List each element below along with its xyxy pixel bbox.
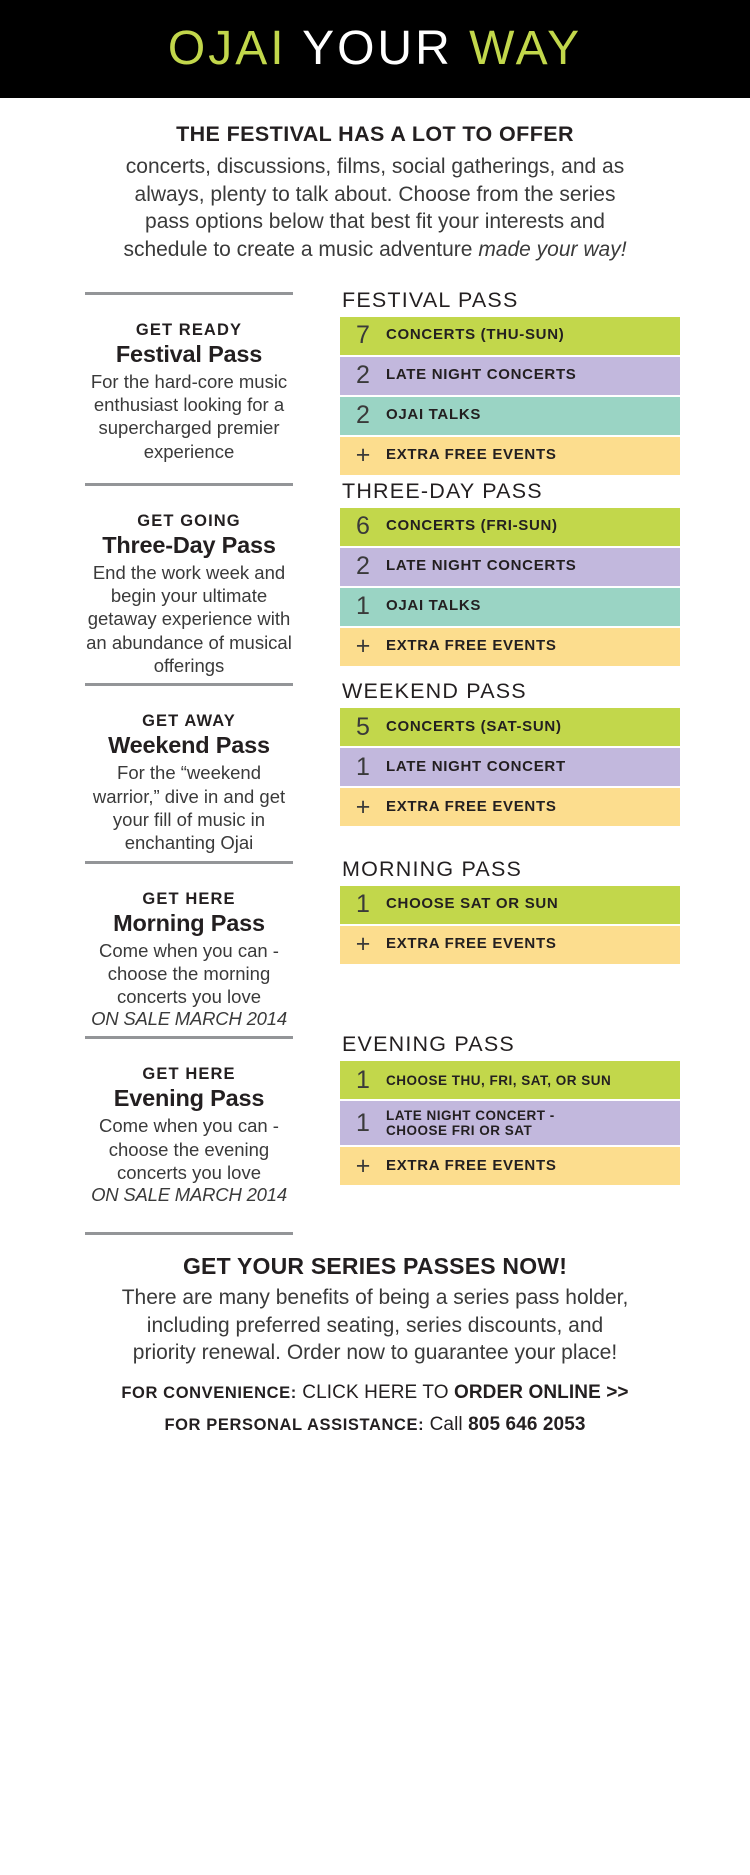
footer-line-2: including preferred seating, series disc… [147,1314,603,1337]
pass-benefits: MORNING PASS1CHOOSE SAT OR SUN+EXTRA FRE… [340,855,680,966]
section-divider [85,292,293,295]
section-divider [85,1232,293,1235]
pass-row: GET HEREMorning PassCome when you can - … [0,855,750,1031]
pass-kicker: GET HERE [84,890,294,909]
benefit-quantity: 1 [340,755,386,780]
pass-info: GET HEREMorning PassCome when you can - … [84,855,294,1031]
pass-on-sale-note: ON SALE MARCH 2014 [84,1184,294,1206]
section-divider [85,861,293,864]
benefit-label: LATE NIGHT CONCERTS [386,558,577,575]
benefit-bar: 1LATE NIGHT CONCERT -CHOOSE FRI OR SAT [340,1101,680,1145]
benefit-bar: 5CONCERTS (SAT-SUN) [340,708,680,746]
pass-row: GET AWAYWeekend PassFor the “weekend war… [0,677,750,854]
pass-title: Morning Pass [84,910,294,937]
pass-info: GET AWAYWeekend PassFor the “weekend war… [84,677,294,854]
infographic-page: OJAI YOUR WAY THE FESTIVAL HAS A LOT TO … [0,0,750,1875]
pass-on-sale-note: ON SALE MARCH 2014 [84,1008,294,1030]
assistance-label: FOR PERSONAL ASSISTANCE: [164,1416,424,1434]
pass-benefits: EVENING PASS1CHOOSE THU, FRI, SAT, OR SU… [340,1030,680,1187]
benefit-bar: 2LATE NIGHT CONCERTS [340,548,680,586]
pass-description: Come when you can - choose the evening c… [84,1114,294,1184]
pass-description: End the work week and begin your ultimat… [84,561,294,677]
benefit-label: CHOOSE SAT OR SUN [386,896,558,913]
phone-number[interactable]: 805 646 2053 [468,1414,585,1435]
benefit-quantity: 5 [340,715,386,740]
call-prefix: Call [430,1414,469,1435]
title-word-way: WAY [469,22,582,75]
section-divider [85,483,293,486]
benefit-bar: +EXTRA FREE EVENTS [340,1147,680,1185]
pass-info: GET HEREEvening PassCome when you can - … [84,1030,294,1235]
pass-kicker: GET HERE [84,1065,294,1084]
pass-benefits-heading: MORNING PASS [342,857,680,882]
benefit-bar: 2LATE NIGHT CONCERTS [340,357,680,395]
pass-benefits: FESTIVAL PASS7CONCERTS (THU-SUN)2LATE NI… [340,286,680,477]
intro-line-3: pass options below that best fit your in… [145,210,605,233]
benefit-quantity: 7 [340,323,386,348]
benefit-bar: 2OJAI TALKS [340,397,680,435]
intro-section: THE FESTIVAL HAS A LOT TO OFFER concerts… [0,98,750,264]
order-online-line: FOR CONVENIENCE: CLICK HERE TO ORDER ONL… [46,1382,704,1404]
footer-line-1: There are many benefits of being a serie… [122,1286,629,1309]
benefit-quantity: 2 [340,554,386,579]
benefit-quantity: 2 [340,363,386,388]
benefit-quantity: + [340,443,386,468]
benefit-quantity: 2 [340,403,386,428]
pass-benefits-heading: FESTIVAL PASS [342,288,680,313]
benefit-bar: 1CHOOSE THU, FRI, SAT, OR SUN [340,1061,680,1099]
benefit-label: OJAI TALKS [386,598,481,615]
intro-line-4: schedule to create a music adventure [123,238,478,261]
benefit-bar-list: 1CHOOSE SAT OR SUN+EXTRA FREE EVENTS [340,886,680,964]
intro-emphasis: made your way! [478,238,626,261]
convenience-label: FOR CONVENIENCE: [121,1384,297,1402]
pass-title: Three-Day Pass [84,532,294,559]
benefit-bar-list: 7CONCERTS (THU-SUN)2LATE NIGHT CONCERTS2… [340,317,680,475]
benefit-label: LATE NIGHT CONCERTS [386,367,577,384]
benefit-label: EXTRA FREE EVENTS [386,936,557,953]
page-title: OJAI YOUR WAY [168,25,582,73]
benefit-bar: 6CONCERTS (FRI-SUN) [340,508,680,546]
pass-benefits-heading: EVENING PASS [342,1032,680,1057]
benefit-bar: 1CHOOSE SAT OR SUN [340,886,680,924]
intro-line-1: concerts, discussions, films, social gat… [126,155,624,178]
benefit-quantity: 1 [340,1068,386,1093]
pass-benefits-heading: THREE-DAY PASS [342,479,680,504]
benefit-bar: 7CONCERTS (THU-SUN) [340,317,680,355]
pass-info: GET GOINGThree-Day PassEnd the work week… [84,477,294,677]
benefit-label: LATE NIGHT CONCERT -CHOOSE FRI OR SAT [386,1108,555,1138]
benefit-quantity: 1 [340,594,386,619]
benefit-label: EXTRA FREE EVENTS [386,799,557,816]
benefit-quantity: 1 [340,1111,386,1136]
pass-description: For the “weekend warrior,” dive in and g… [84,761,294,854]
footer-section: GET YOUR SERIES PASSES NOW! There are ma… [0,1235,750,1466]
benefit-label: CONCERTS (THU-SUN) [386,327,564,344]
pass-benefits: WEEKEND PASS5CONCERTS (SAT-SUN)1LATE NIG… [340,677,680,828]
benefit-bar: +EXTRA FREE EVENTS [340,926,680,964]
pass-benefits: THREE-DAY PASS6CONCERTS (FRI-SUN)2LATE N… [340,477,680,668]
benefit-label: CONCERTS (SAT-SUN) [386,719,562,736]
footer-body: There are many benefits of being a serie… [46,1284,704,1366]
benefit-quantity: + [340,795,386,820]
pass-title: Festival Pass [84,341,294,368]
benefit-bar-list: 6CONCERTS (FRI-SUN)2LATE NIGHT CONCERTS1… [340,508,680,666]
pass-description: Come when you can - choose the morning c… [84,939,294,1009]
intro-heading: THE FESTIVAL HAS A LOT TO OFFER [56,122,694,147]
pass-info: GET READYFestival PassFor the hard-core … [84,286,294,463]
benefit-bar: +EXTRA FREE EVENTS [340,628,680,666]
benefit-quantity: + [340,1154,386,1179]
footer-heading: GET YOUR SERIES PASSES NOW! [46,1253,704,1280]
pass-row: GET READYFestival PassFor the hard-core … [0,286,750,477]
benefit-label: CONCERTS (FRI-SUN) [386,518,558,535]
benefit-label: OJAI TALKS [386,407,481,424]
benefit-label: CHOOSE THU, FRI, SAT, OR SUN [386,1073,611,1088]
benefit-bar: 1LATE NIGHT CONCERT [340,748,680,786]
intro-body: concerts, discussions, films, social gat… [56,153,694,264]
benefit-bar: +EXTRA FREE EVENTS [340,788,680,826]
title-word-ojai: OJAI [168,22,287,75]
benefit-label: EXTRA FREE EVENTS [386,1158,557,1175]
pass-row: GET GOINGThree-Day PassEnd the work week… [0,477,750,677]
benefit-bar-list: 5CONCERTS (SAT-SUN)1LATE NIGHT CONCERT+E… [340,708,680,826]
pass-row: GET HEREEvening PassCome when you can - … [0,1030,750,1235]
pass-description: For the hard-core music enthusiast looki… [84,370,294,463]
pass-benefits-heading: WEEKEND PASS [342,679,680,704]
benefit-bar-list: 1CHOOSE THU, FRI, SAT, OR SUN1LATE NIGHT… [340,1061,680,1185]
benefit-quantity: + [340,932,386,957]
section-divider [85,1036,293,1039]
benefit-quantity: 1 [340,892,386,917]
pass-kicker: GET AWAY [84,712,294,731]
benefit-bar: 1OJAI TALKS [340,588,680,626]
benefit-label: LATE NIGHT CONCERT [386,759,566,776]
phone-line: FOR PERSONAL ASSISTANCE: Call 805 646 20… [46,1414,704,1436]
footer-line-3: priority renewal. Order now to guarantee… [133,1341,617,1364]
benefit-bar: +EXTRA FREE EVENTS [340,437,680,475]
pass-kicker: GET READY [84,321,294,340]
pass-title: Weekend Pass [84,732,294,759]
order-online-link[interactable]: ORDER ONLINE >> [454,1382,629,1403]
benefit-label: EXTRA FREE EVENTS [386,447,557,464]
title-word-your: YOUR [302,22,453,75]
benefit-quantity: + [340,634,386,659]
intro-line-2: always, plenty to talk about. Choose fro… [135,183,616,206]
pass-list: GET READYFestival PassFor the hard-core … [0,286,750,1235]
benefit-label: EXTRA FREE EVENTS [386,638,557,655]
pass-kicker: GET GOING [84,512,294,531]
order-online-prefix: CLICK HERE TO [302,1382,454,1403]
masthead-banner: OJAI YOUR WAY [0,0,750,98]
section-divider [85,683,293,686]
benefit-quantity: 6 [340,514,386,539]
pass-title: Evening Pass [84,1085,294,1112]
